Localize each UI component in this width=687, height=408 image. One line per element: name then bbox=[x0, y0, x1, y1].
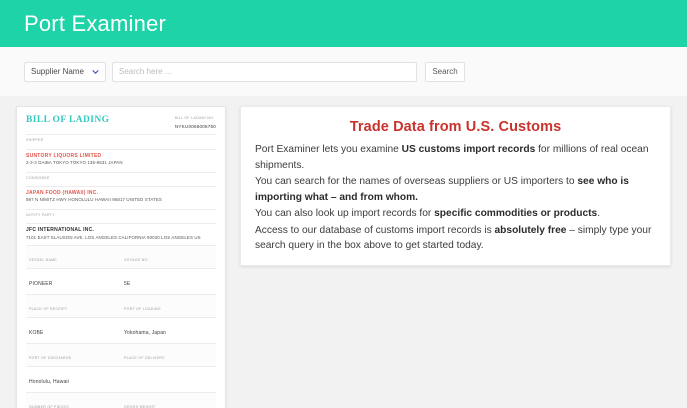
document-column: BILL OF LADING BILL OF LADING NO. NYKU00… bbox=[16, 106, 226, 408]
consignee-block: CONSIGNEE JAPAN FOOD (HAWAII) INC. 987 N… bbox=[26, 172, 216, 204]
consignee-label: CONSIGNEE bbox=[26, 176, 216, 181]
search-input[interactable] bbox=[112, 62, 417, 82]
notify-party-name: JFC INTERNATIONAL INC. bbox=[26, 227, 216, 234]
divider bbox=[26, 223, 216, 224]
cell-value: Yokohama, Japan bbox=[124, 330, 166, 336]
cell-label: VESSEL NAME bbox=[29, 258, 57, 262]
bill-of-lading-number-value: NYKU0066005760 bbox=[175, 124, 216, 129]
bill-of-lading-header: BILL OF LADING BILL OF LADING NO. NYKU00… bbox=[26, 115, 216, 129]
info-panel: Trade Data from U.S. Customs Port Examin… bbox=[240, 106, 671, 266]
shipper-label: SHIPPER bbox=[26, 138, 216, 143]
table-row: VESSEL NAME VOYAGE NO. bbox=[26, 246, 216, 269]
cell-label: PLACE OF DELIVERY bbox=[124, 356, 165, 360]
shipment-details-table: VESSEL NAME VOYAGE NO. PIONEER 5E PLACE … bbox=[26, 245, 216, 408]
info-paragraph: You can search for the names of overseas… bbox=[255, 174, 656, 205]
cell-label: PLACE OF RECEIPT bbox=[29, 307, 67, 311]
info-paragraph: Access to our database of customs import… bbox=[255, 223, 656, 254]
info-panel-title: Trade Data from U.S. Customs bbox=[255, 119, 656, 135]
cell-value: PIONEER bbox=[29, 281, 53, 287]
bill-of-lading-number-block: BILL OF LADING NO. NYKU0066005760 bbox=[175, 115, 216, 129]
cell-label: PORT OF LOADING bbox=[124, 307, 161, 311]
cell-value: Honolulu, Hawaii bbox=[29, 379, 69, 385]
shipper-name: SUNTORY LIQUORS LIMITED bbox=[26, 153, 216, 160]
divider bbox=[26, 149, 216, 150]
info-paragraph: You can also look up import records for … bbox=[255, 206, 656, 222]
search-category-label: Supplier Name bbox=[31, 67, 84, 76]
page-root: Port Examiner Supplier Name Search BILL … bbox=[0, 0, 687, 408]
consignee-name: JAPAN FOOD (HAWAII) INC. bbox=[26, 190, 216, 197]
table-row: PLACE OF RECEIPT PORT OF LOADING bbox=[26, 295, 216, 318]
shipper-block: SHIPPER SUNTORY LIQUORS LIMITED 2-3-3 DA… bbox=[26, 138, 216, 166]
info-panel-body: Port Examiner lets you examine US custom… bbox=[255, 142, 656, 254]
cell-value: KOBE bbox=[29, 330, 44, 336]
site-header: Port Examiner bbox=[0, 0, 687, 47]
divider bbox=[26, 172, 216, 173]
notify-party-label: NOTIFY PARTY bbox=[26, 213, 216, 218]
shipment-details-body: VESSEL NAME VOYAGE NO. PIONEER 5E PLACE … bbox=[26, 246, 216, 408]
search-bar: Supplier Name Search bbox=[0, 47, 687, 96]
table-row: PORT OF DISCHARGE PLACE OF DELIVERY bbox=[26, 344, 216, 367]
table-row: NUMBER OF PIECES GROSS WEIGHT bbox=[26, 393, 216, 408]
search-button[interactable]: Search bbox=[425, 62, 465, 82]
cell-label: PORT OF DISCHARGE bbox=[29, 356, 71, 360]
bill-of-lading-number-label: BILL OF LADING NO. bbox=[175, 116, 216, 121]
consignee-address: 987 N NIMITZ HWY HONOLULU HAWAII 96817 U… bbox=[26, 197, 216, 204]
table-row: PIONEER 5E bbox=[26, 269, 216, 295]
search-category-select[interactable]: Supplier Name bbox=[24, 62, 106, 82]
site-title: Port Examiner bbox=[24, 13, 166, 35]
table-row: KOBE Yokohama, Japan bbox=[26, 318, 216, 344]
table-row: Honolulu, Hawaii bbox=[26, 367, 216, 393]
notify-party-block: NOTIFY PARTY JFC INTERNATIONAL INC. 7101… bbox=[26, 209, 216, 241]
content-area: BILL OF LADING BILL OF LADING NO. NYKU00… bbox=[0, 96, 687, 408]
bill-of-lading-card: BILL OF LADING BILL OF LADING NO. NYKU00… bbox=[16, 106, 226, 408]
notify-party-address: 7101 EAST SLAUSON AVE. LOS ANGELES CALIF… bbox=[26, 235, 216, 242]
info-paragraph: Port Examiner lets you examine US custom… bbox=[255, 142, 656, 173]
divider bbox=[26, 209, 216, 210]
divider bbox=[26, 134, 216, 135]
chevron-down-icon bbox=[92, 68, 99, 75]
bill-of-lading-title: BILL OF LADING bbox=[26, 115, 109, 125]
cell-label: VOYAGE NO. bbox=[124, 258, 149, 262]
divider bbox=[26, 186, 216, 187]
cell-value: 5E bbox=[124, 281, 130, 287]
shipper-address: 2-3-3 DAIBA TOKYO TOKYO 135-8631 JAPAN bbox=[26, 160, 216, 167]
